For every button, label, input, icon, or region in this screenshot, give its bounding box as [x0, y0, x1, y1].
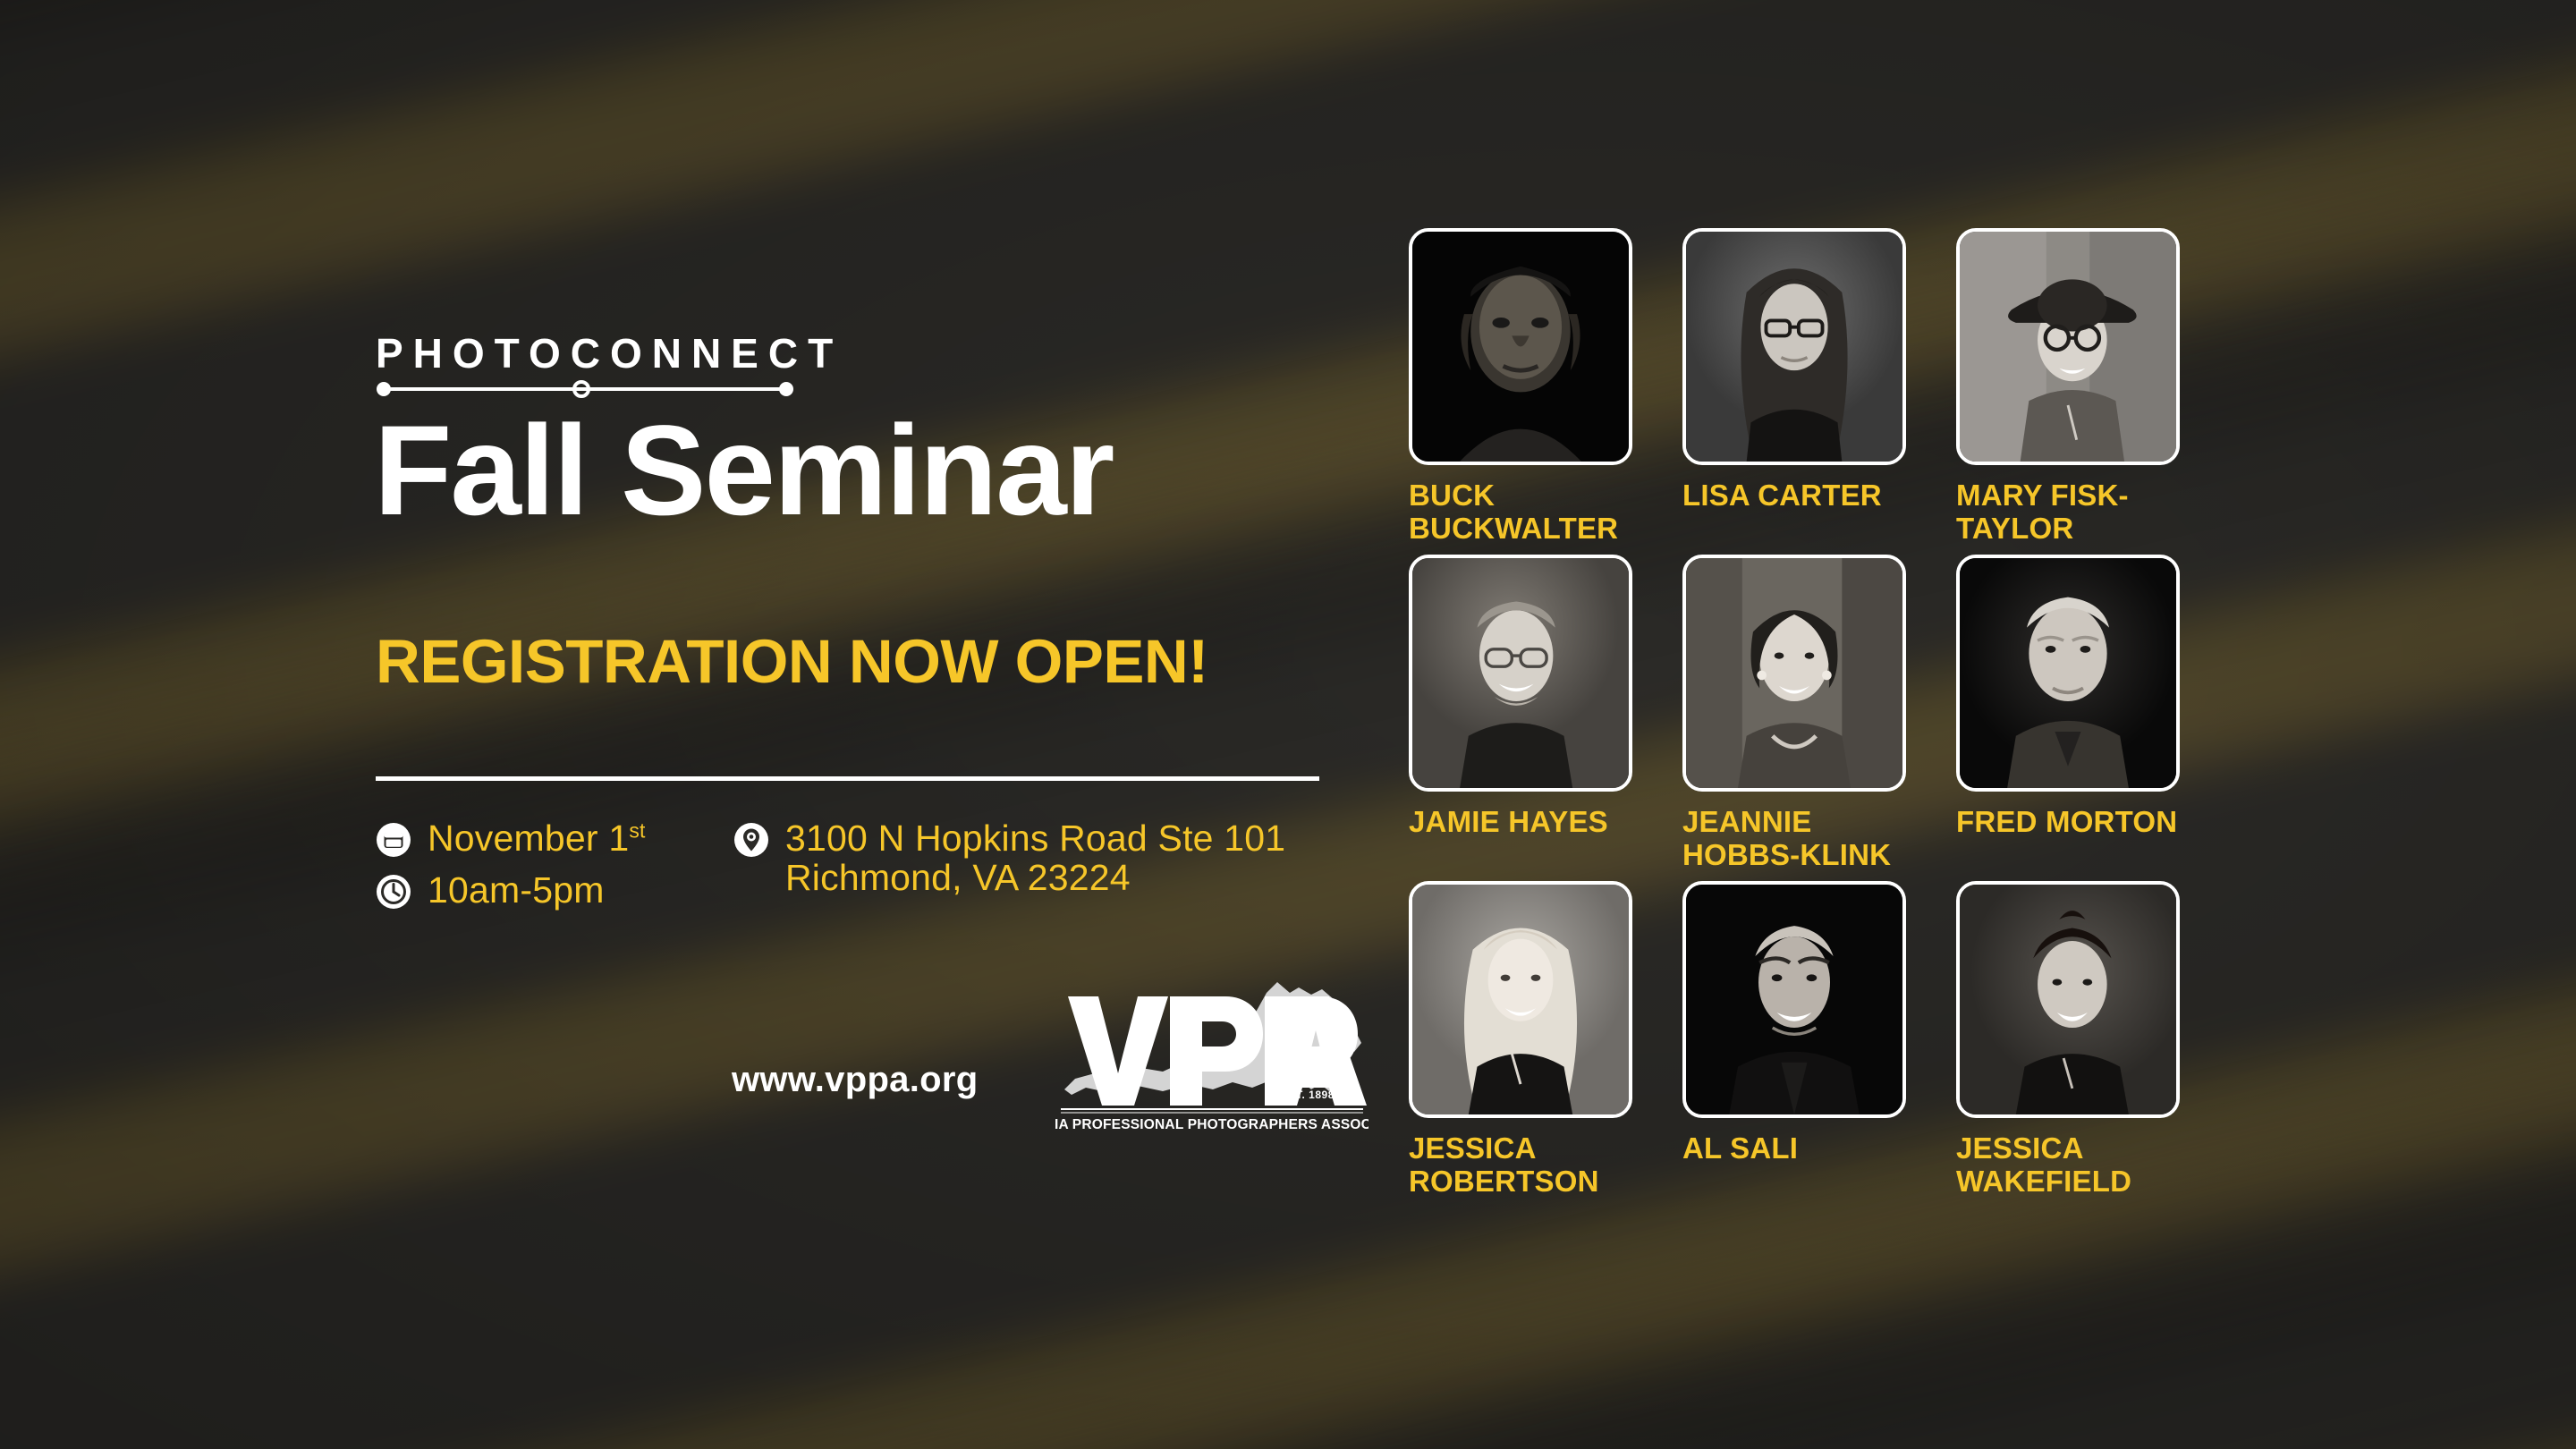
speaker-name: MARY FISK-TAYLOR [1956, 479, 2180, 546]
event-address: 3100 N Hopkins Road Ste 101 Richmond, VA… [785, 818, 1285, 898]
info-panel: PHOTOCONNECT Fall Seminar REGISTRATION N… [0, 0, 1377, 1449]
speaker-name: LISA CARTER [1682, 479, 1906, 513]
speaker-card[interactable]: FRED MORTON [1956, 555, 2180, 881]
portrait-mary-fisk-taylor [1956, 228, 2180, 465]
speaker-grid: BUCK BUCKWALTER LISA CARTER [1409, 228, 2180, 1207]
speaker-card[interactable]: JEANNIE HOBBS-KLINK [1682, 555, 1906, 881]
speaker-card[interactable]: LISA CARTER [1682, 228, 1906, 555]
event-details: November 1st 10am-5pm [376, 818, 1285, 911]
portrait-jessica-robertson [1409, 881, 1632, 1118]
portrait-jessica-wakefield [1956, 881, 2180, 1118]
speaker-name: FRED MORTON [1956, 806, 2180, 839]
speaker-name: BUCK BUCKWALTER [1409, 479, 1632, 546]
vppa-logo: EST. 1898 VIRGINIA PROFESSIONAL PHOTOGRA… [1055, 973, 1368, 1136]
calendar-icon [376, 822, 411, 858]
website-url[interactable]: www.vppa.org [732, 1060, 978, 1100]
speaker-card[interactable]: BUCK BUCKWALTER [1409, 228, 1632, 555]
portrait-fred-morton [1956, 555, 2180, 792]
speaker-name: AL SALI [1682, 1132, 1906, 1165]
portrait-al-sali [1682, 881, 1906, 1118]
map-pin-icon [733, 822, 769, 858]
portrait-jamie-hayes [1409, 555, 1632, 792]
seminar-poster: PHOTOCONNECT Fall Seminar REGISTRATION N… [0, 0, 2576, 1449]
section-divider [376, 776, 1319, 781]
speaker-card[interactable]: JESSICA ROBERTSON [1409, 881, 1632, 1207]
registration-banner: REGISTRATION NOW OPEN! [376, 626, 1208, 697]
date-row: November 1st [376, 818, 733, 858]
page-title: Fall Seminar [374, 407, 1113, 535]
event-time: 10am-5pm [428, 870, 605, 910]
speaker-name: JESSICA ROBERTSON [1409, 1132, 1632, 1199]
portrait-jeannie-hobbs-klink [1682, 555, 1906, 792]
speaker-name: JAMIE HAYES [1409, 806, 1632, 839]
kicker-rule [376, 379, 794, 399]
when-column: November 1st 10am-5pm [376, 818, 733, 911]
kicker-text: PHOTOCONNECT [376, 329, 843, 377]
logo-established: EST. 1898 [1281, 1089, 1335, 1101]
address-row: 3100 N Hopkins Road Ste 101 Richmond, VA… [733, 818, 1285, 898]
time-row: 10am-5pm [376, 870, 733, 910]
clock-icon [376, 874, 411, 910]
speaker-card[interactable]: JESSICA WAKEFIELD [1956, 881, 2180, 1207]
event-date: November 1st [428, 818, 646, 858]
logo-tagline: VIRGINIA PROFESSIONAL PHOTOGRAPHERS ASSO… [1055, 1117, 1368, 1132]
speaker-card: MARY FISK-TAYLOR [1956, 228, 2180, 555]
speaker-name: JEANNIE HOBBS-KLINK [1682, 806, 1906, 872]
portrait-buck-buckwalter [1409, 228, 1632, 465]
speaker-name: JESSICA WAKEFIELD [1956, 1132, 2180, 1199]
speaker-card[interactable]: AL SALI [1682, 881, 1906, 1207]
speaker-card[interactable]: JAMIE HAYES [1409, 555, 1632, 881]
where-column: 3100 N Hopkins Road Ste 101 Richmond, VA… [733, 818, 1285, 911]
portrait-lisa-carter [1682, 228, 1906, 465]
